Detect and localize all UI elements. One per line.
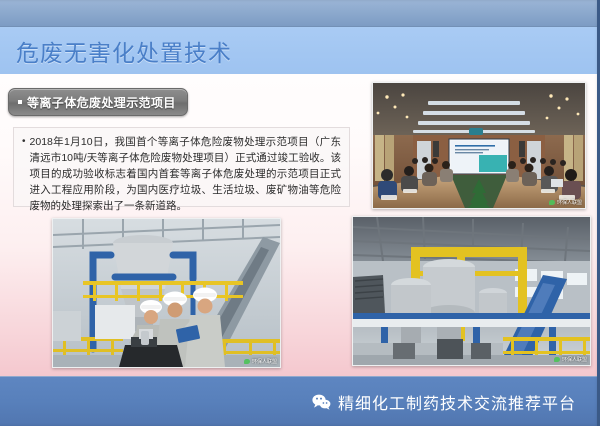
photo-watermark: 环保人联盟 <box>554 356 587 363</box>
plant-illustration <box>353 217 590 365</box>
watermark-text: 环保人联盟 <box>562 356 587 363</box>
watermark-text: 环保人联盟 <box>557 199 582 206</box>
body-paragraph: 2018年1月10日，我国首个等离子体危险废物处理示范项目（广东清远市10吨/天… <box>30 134 341 214</box>
meeting-room-photo: 环保人联盟 <box>372 82 586 209</box>
bullet-list-item: • 2018年1月10日，我国首个等离子体危险废物处理示范项目（广东清远市10吨… <box>22 134 341 214</box>
footer-bar: 精细化工制药技术交流推荐平台 <box>0 376 600 426</box>
workers-illustration <box>53 219 280 367</box>
photo-watermark: 环保人联盟 <box>244 358 277 365</box>
wechat-dot-icon <box>554 357 560 362</box>
bullet-icon: • <box>22 134 26 149</box>
subtitle-label: 等离子体危废处理示范项目 <box>27 94 176 111</box>
footer-label: 精细化工制药技术交流推荐平台 <box>338 390 576 414</box>
wechat-dot-icon <box>244 359 250 364</box>
slide-canvas: 危废无害化处置技术 等离子体危废处理示范项目 • 2018年1月10日，我国首个… <box>0 0 600 426</box>
wechat-icon <box>312 394 331 410</box>
plant-interior-photo: 环保人联盟 <box>352 216 591 366</box>
meeting-room-illustration <box>373 83 585 208</box>
wechat-dot-icon <box>549 200 555 205</box>
photo-watermark: 环保人联盟 <box>549 199 582 206</box>
footer-content: 精细化工制药技术交流推荐平台 <box>312 390 576 414</box>
subtitle-badge[interactable]: 等离子体危废处理示范项目 <box>8 88 188 116</box>
top-strip <box>0 0 600 27</box>
workers-inspection-photo: 环保人联盟 <box>52 218 281 368</box>
body-text-panel: • 2018年1月10日，我国首个等离子体危险废物处理示范项目（广东清远市10吨… <box>13 127 350 207</box>
page-title: 危废无害化处置技术 <box>16 34 232 68</box>
watermark-text: 环保人联盟 <box>252 358 277 365</box>
square-bullet-icon <box>18 100 22 104</box>
title-banner: 危废无害化处置技术 <box>0 27 597 74</box>
